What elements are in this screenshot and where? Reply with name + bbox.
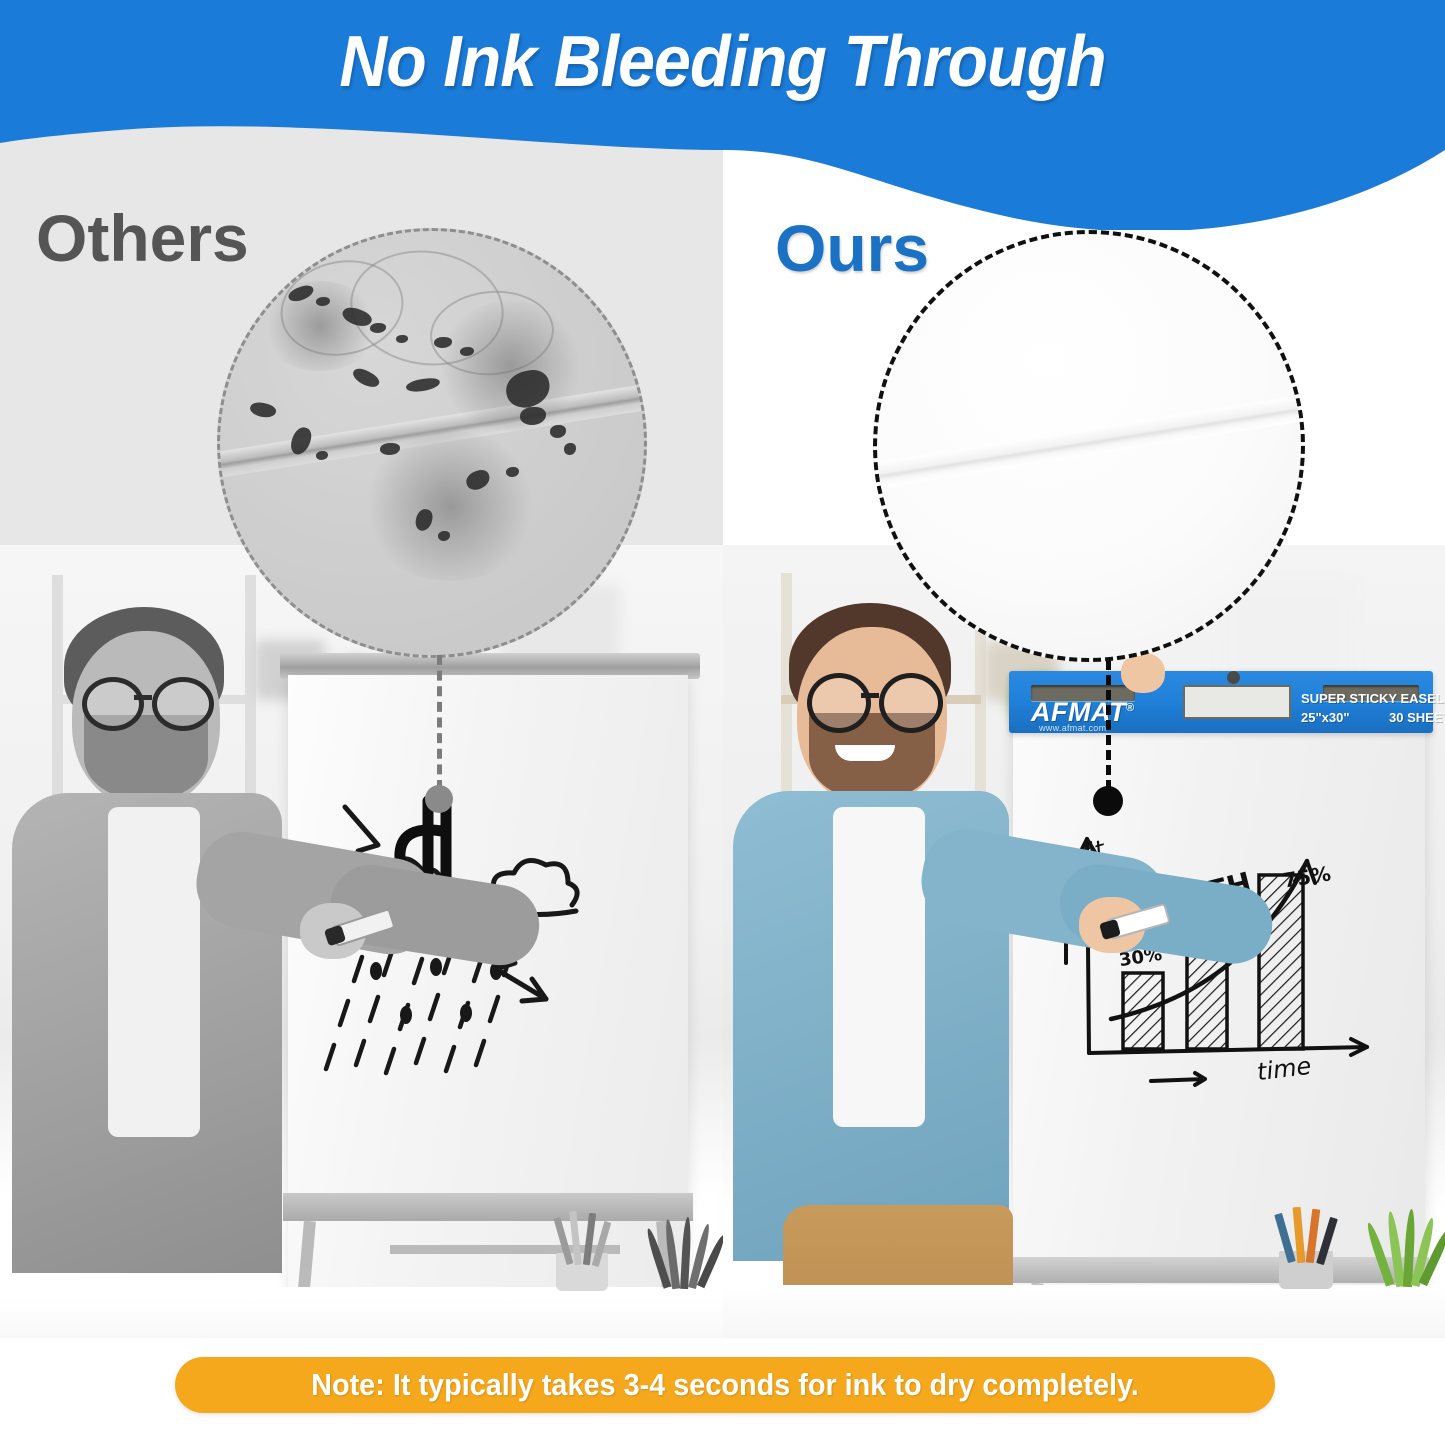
others-leader-dot: [425, 785, 453, 813]
smile: [835, 745, 895, 761]
ours-photo: AFMAT® www.afmat.com SUPER STICKY EASEL …: [723, 545, 1445, 1338]
pad-window-slot: [1183, 685, 1291, 719]
note-text: Note: It typically takes 3-4 seconds for…: [311, 1368, 1139, 1402]
sheet-count-text: 30 SHEETS: [1389, 710, 1445, 725]
ours-label: Ours: [775, 215, 929, 281]
note-banner: Note: It typically takes 3-4 seconds for…: [175, 1357, 1275, 1413]
ours-leader-dot: [1093, 786, 1123, 816]
desk-surface: [723, 1285, 1445, 1338]
hand-top: [1121, 653, 1165, 693]
others-leader-line: [437, 655, 442, 790]
registered-mark: ®: [1126, 702, 1135, 714]
potted-plant: [650, 1217, 718, 1291]
product-name-text: SUPER STICKY EASEL PAD: [1301, 691, 1445, 706]
page-title: No Ink Bleeding Through: [58, 20, 1387, 104]
others-label: Others: [36, 205, 249, 271]
desk-surface: [0, 1287, 723, 1338]
others-magnifier-circle: [217, 228, 647, 658]
paper-fold: [873, 388, 1305, 496]
brand-website: www.afmat.com: [1039, 723, 1106, 733]
easel-tray: [283, 1193, 693, 1221]
product-comparison-infographic: AFMAT® www.afmat.com SUPER STICKY EASEL …: [0, 0, 1445, 1430]
easel-tray: [1009, 1257, 1429, 1283]
pad-hang-hole: [1227, 671, 1240, 684]
ours-easel-paper: [1013, 715, 1425, 1338]
others-easel-paper: [288, 675, 688, 1335]
ours-leader-line: [1106, 660, 1111, 790]
product-size-text: 25"x30": [1301, 710, 1349, 725]
potted-plant: [1371, 1209, 1443, 1291]
others-photo: [0, 545, 723, 1338]
ours-magnifier-circle: [873, 230, 1305, 662]
